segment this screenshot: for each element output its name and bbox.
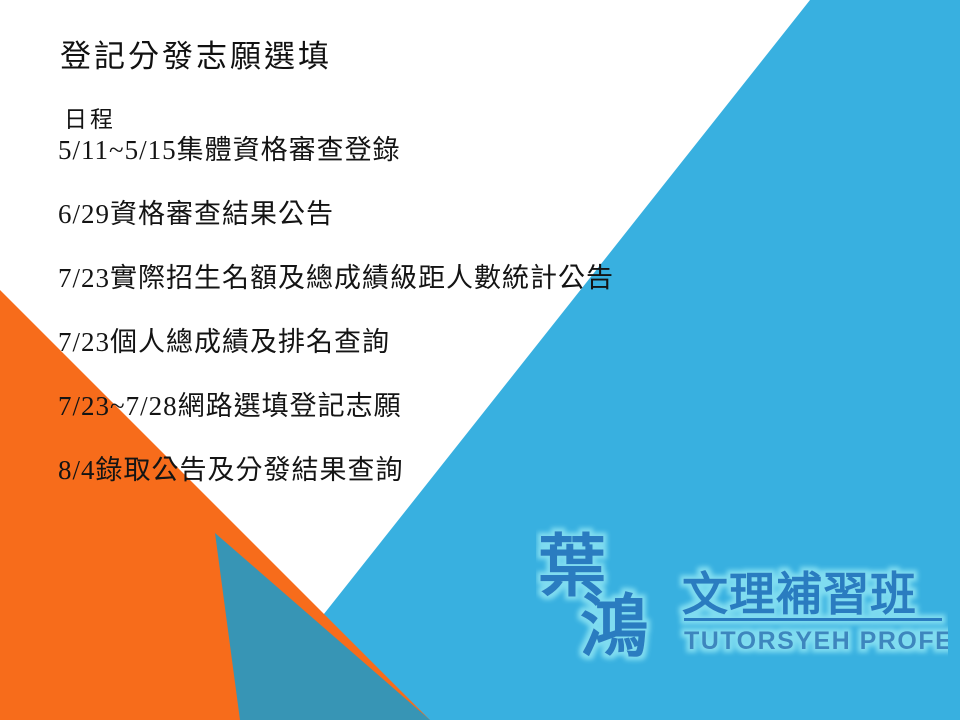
presentation-slide: 登記分發志願選填 日程 5/11~5/15集體資格審查登錄 6/29資格審查結果…	[0, 0, 960, 720]
schedule-lead-label: 日程	[64, 108, 758, 131]
brand-logo: 葉 鴻 文理補習班 TUTORSYEH PROFESSOR	[536, 518, 948, 668]
schedule-item-3: 7/23實際招生名額及總成績級距人數統計公告	[58, 265, 758, 292]
logo-name-cjk: 文理補習班	[682, 568, 917, 620]
schedule-item-2: 6/29資格審查結果公告	[58, 201, 758, 228]
logo-name-latin: TUTORSYEH PROFESSOR	[684, 627, 948, 655]
logo-brand-mark-group: 葉 鴻	[538, 529, 648, 665]
logo-brand-character-hong: 鴻	[580, 589, 648, 665]
schedule-item-5: 7/23~7/28網路選填登記志願	[58, 393, 758, 420]
logo-name-group: 文理補習班 TUTORSYEH PROFESSOR	[682, 568, 948, 655]
schedule-list: 日程 5/11~5/15集體資格審查登錄 6/29資格審查結果公告 7/23實際…	[58, 108, 758, 484]
schedule-item-4: 7/23個人總成績及排名查詢	[58, 329, 758, 356]
logo-divider-rule	[684, 618, 942, 621]
brand-logo-graphic: 葉 鴻 文理補習班 TUTORSYEH PROFESSOR	[536, 518, 948, 668]
slide-title: 登記分發志願選填	[60, 38, 332, 77]
schedule-item-1: 5/11~5/15集體資格審查登錄	[58, 137, 758, 164]
schedule-item-6: 8/4錄取公告及分發結果查詢	[58, 457, 758, 484]
